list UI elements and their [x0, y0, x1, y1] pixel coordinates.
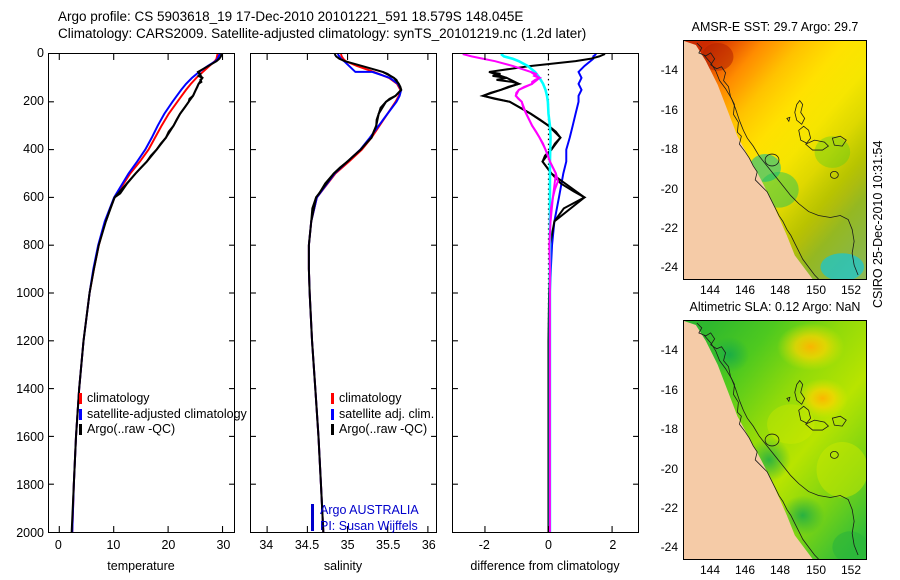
salinity-axis-title: salinity	[324, 559, 362, 573]
curve-argo-noise	[311, 72, 401, 221]
y-tick-1400: 1400	[8, 382, 44, 396]
legend-swatch-argo	[331, 424, 334, 435]
difference-axis-title: difference from climatology	[470, 559, 619, 573]
y-tick-400: 400	[14, 142, 44, 156]
y-tick-1800: 1800	[8, 478, 44, 492]
temperature-axis-title: temperature	[107, 559, 174, 573]
legend-label-satellite-adjusted: satellite-adjusted climatology	[87, 407, 247, 423]
sla-y-tick-22: -22	[650, 501, 678, 515]
sla-y-tick-24: -24	[650, 540, 678, 554]
difference-curves	[463, 54, 605, 532]
credit-line-1: Argo AUSTRALIA	[320, 503, 419, 517]
sst-map	[683, 40, 867, 280]
sla-y-tick-14: -14	[650, 343, 678, 357]
legend-label-climatology: climatology	[339, 391, 402, 407]
sst-y-tick-20: -20	[650, 182, 678, 196]
sst-y-tick-22: -22	[650, 221, 678, 235]
temperature-curves	[72, 54, 222, 532]
sla-x-tick-144: 144	[700, 563, 720, 577]
sla-map-raster	[684, 321, 866, 559]
sla-x-tick-146: 146	[735, 563, 755, 577]
y-tick-800: 800	[14, 238, 44, 252]
timestamp-text: CSIRO 25-Dec-2010 10:31:54	[871, 290, 885, 308]
sla-y-tick-20: -20	[650, 462, 678, 476]
curve-temperature-satellite	[549, 54, 596, 532]
difference-profile-plot	[453, 54, 638, 532]
curve-temperature-argo-wiggle	[483, 72, 584, 221]
y-tick-0: 0	[14, 46, 44, 60]
curve-salinity-argo	[463, 54, 556, 532]
curve-argo-raw	[72, 54, 222, 532]
y-tick-2000: 2000	[8, 526, 44, 540]
title-line-2: Climatology: CARS2009. Satellite-adjuste…	[58, 26, 586, 41]
salinity-profile-plot	[251, 54, 436, 532]
curve-temperature-argo	[483, 54, 605, 532]
legend-item-climatology: climatology	[79, 391, 247, 407]
salinity-legend: climatology satellite adj. clim. Argo(..…	[331, 391, 434, 438]
difference-x-tick-neg2: -2	[479, 538, 490, 552]
legend-item-climatology: climatology	[331, 391, 434, 407]
difference-x-tick-2: 2	[609, 538, 616, 552]
y-tick-1200: 1200	[8, 334, 44, 348]
curve-salinity-satellite	[501, 54, 551, 532]
legend-swatch-satellite-adjusted	[79, 409, 82, 420]
temperature-profile-plot	[49, 54, 234, 532]
curve-argo-noise	[106, 72, 202, 221]
temperature-profile-panel: climatology satellite-adjusted climatolo…	[48, 53, 235, 533]
sla-x-tick-148: 148	[770, 563, 790, 577]
difference-x-tick-0: 0	[545, 538, 552, 552]
y-tick-1600: 1600	[8, 430, 44, 444]
legend-item-satellite-adjusted: satellite adj. clim.	[331, 407, 434, 423]
legend-label-satellite-adjusted: satellite adj. clim.	[339, 407, 434, 423]
difference-axis-ticks	[453, 54, 638, 532]
sst-x-tick-148: 148	[770, 283, 790, 297]
sla-y-tick-18: -18	[650, 422, 678, 436]
legend-label-argo: Argo(..raw -QC)	[339, 422, 427, 438]
sst-y-tick-14: -14	[650, 63, 678, 77]
temperature-x-tick-20: 20	[161, 538, 175, 552]
temperature-x-tick-10: 10	[106, 538, 120, 552]
sst-x-tick-152: 152	[841, 283, 861, 297]
salinity-x-tick-36: 36	[422, 538, 436, 552]
curve-climatology	[72, 54, 217, 532]
sst-map-title: AMSR-E SST: 29.7 Argo: 29.7	[692, 20, 859, 34]
credit-line-2: PI: Susan Wijffels	[320, 519, 418, 533]
salinity-x-tick-34: 34	[259, 538, 273, 552]
temperature-axis-ticks	[49, 54, 234, 532]
sla-map-title: Altimetric SLA: 0.12 Argo: NaN	[690, 300, 861, 314]
y-tick-600: 600	[14, 190, 44, 204]
sla-y-tick-16: -16	[650, 383, 678, 397]
salinity-profile-panel: climatology satellite adj. clim. Argo(..…	[250, 53, 437, 533]
temperature-x-tick-0: 0	[55, 538, 62, 552]
curve-satellite-adjusted	[72, 54, 220, 532]
legend-swatch-satellite-adjusted	[331, 409, 334, 420]
legend-swatch-climatology	[79, 393, 82, 404]
sla-map	[683, 320, 867, 560]
sst-y-tick-18: -18	[650, 142, 678, 156]
sst-y-tick-24: -24	[650, 260, 678, 274]
curve-argo-raw	[309, 54, 401, 532]
credit-block: Argo AUSTRALIA PI: Susan Wijffels	[320, 503, 419, 534]
legend-item-argo: Argo(..raw -QC)	[79, 422, 247, 438]
sst-x-tick-146: 146	[735, 283, 755, 297]
sst-x-tick-144: 144	[700, 283, 720, 297]
credit-bar	[311, 504, 314, 531]
legend-item-argo: Argo(..raw -QC)	[331, 422, 434, 438]
page-title: Argo profile: CS 5903618_19 17-Dec-2010 …	[58, 8, 678, 42]
timestamp-stamp: CSIRO 25-Dec-2010 10:31:54	[871, 290, 900, 308]
legend-swatch-argo	[79, 424, 82, 435]
sla-x-tick-150: 150	[806, 563, 826, 577]
temperature-legend: climatology satellite-adjusted climatolo…	[79, 391, 247, 438]
figure-canvas: Argo profile: CS 5903618_19 17-Dec-2010 …	[0, 0, 900, 580]
temperature-x-tick-30: 30	[216, 538, 230, 552]
legend-label-climatology: climatology	[87, 391, 150, 407]
difference-profile-panel: temperature satellite Argo(-adj) salinit…	[452, 53, 639, 533]
salinity-x-tick-35-5: 35.5	[376, 538, 400, 552]
legend-swatch-climatology	[331, 393, 334, 404]
curve-climatology	[309, 54, 401, 532]
salinity-x-tick-34-5: 34.5	[295, 538, 319, 552]
y-tick-200: 200	[14, 94, 44, 108]
salinity-x-tick-35: 35	[341, 538, 355, 552]
legend-item-satellite-adjusted: satellite-adjusted climatology	[79, 407, 247, 423]
sst-map-raster	[684, 41, 866, 279]
curve-satellite-adjusted	[309, 54, 401, 532]
legend-label-argo: Argo(..raw -QC)	[87, 422, 175, 438]
sla-x-tick-152: 152	[841, 563, 861, 577]
sst-y-tick-16: -16	[650, 103, 678, 117]
salinity-axis-ticks	[251, 54, 436, 532]
salinity-curves	[309, 54, 401, 532]
y-tick-1000: 1000	[8, 286, 44, 300]
title-line-1: Argo profile: CS 5903618_19 17-Dec-2010 …	[58, 9, 523, 24]
sst-x-tick-150: 150	[806, 283, 826, 297]
